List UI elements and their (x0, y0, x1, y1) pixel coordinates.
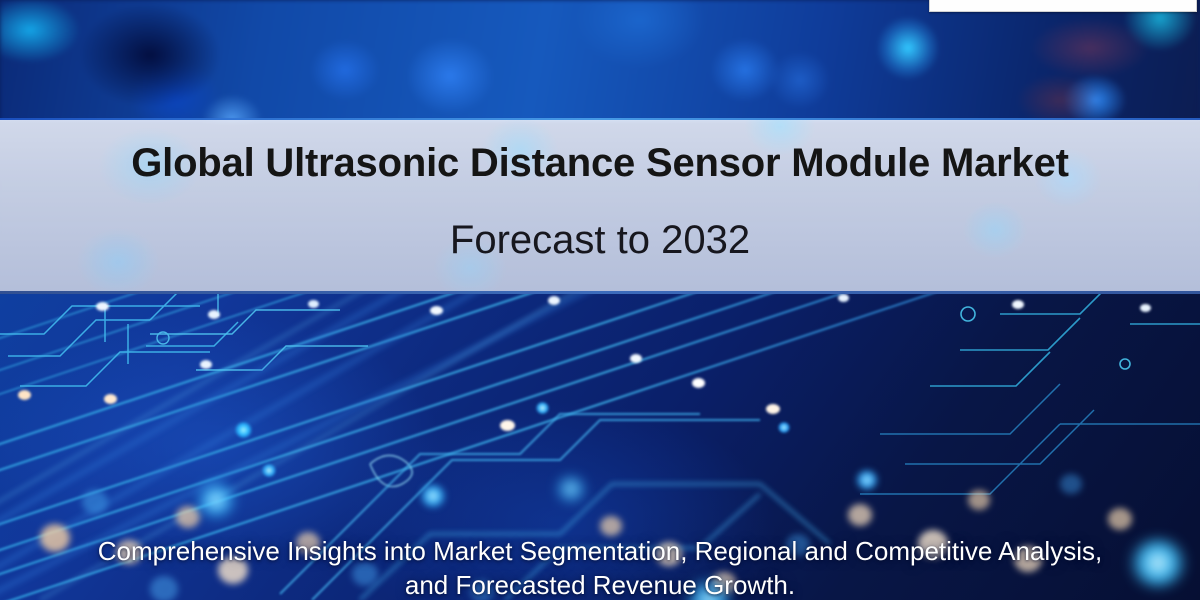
page-subtitle: Forecast to 2032 (0, 219, 1200, 261)
caption-line-2: and Forecasted Revenue Growth. (0, 568, 1200, 600)
caption-line-1: Comprehensive Insights into Market Segme… (0, 534, 1200, 568)
banner-caption: Comprehensive Insights into Market Segme… (0, 534, 1200, 600)
logo-placeholder (929, 0, 1197, 12)
market-report-banner: Global Ultrasonic Distance Sensor Module… (0, 0, 1200, 600)
bokeh-lights-icon (0, 0, 1200, 122)
page-title: Global Ultrasonic Distance Sensor Module… (0, 142, 1200, 184)
